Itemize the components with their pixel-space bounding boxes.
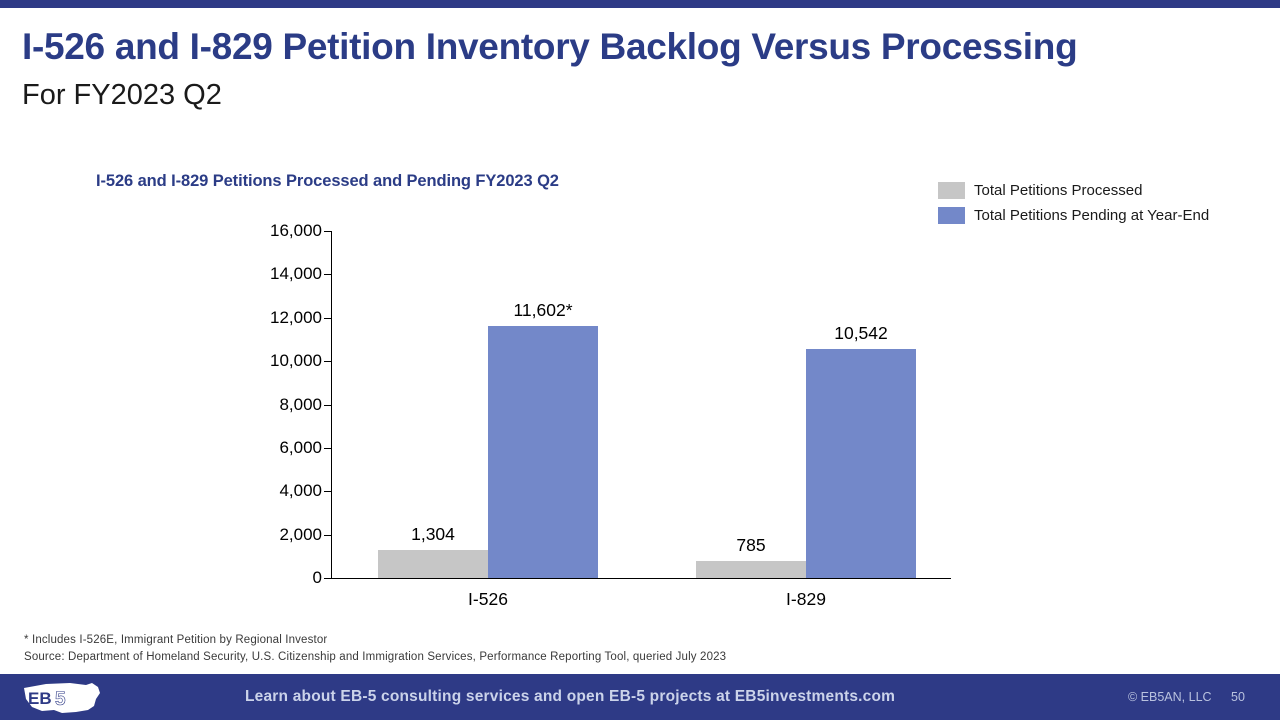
footer-copyright: © EB5AN, LLC [1128,690,1212,704]
bar-value-label: 1,304 [411,524,455,545]
bar-i-526-processed[interactable] [378,550,488,578]
y-axis-tick-label: 8,000 [279,395,322,415]
x-axis-category-label: I-829 [786,589,826,610]
y-axis-tick-label: 16,000 [270,221,322,241]
bar-i-829-pending[interactable] [806,349,916,578]
x-axis-line [331,578,951,579]
y-axis-tick-mark [324,318,331,319]
y-axis-tick-mark [324,491,331,492]
legend-label-pending: Total Petitions Pending at Year-End [974,207,1209,224]
y-axis-tick-mark [324,274,331,275]
y-axis-tick-mark [324,535,331,536]
page-title: I-526 and I-829 Petition Inventory Backl… [22,26,1077,68]
legend-item-pending[interactable]: Total Petitions Pending at Year-End [938,203,1209,228]
page-number: 50 [1231,690,1245,704]
bar-i-526-pending[interactable] [488,326,598,578]
y-axis-tick-mark [324,405,331,406]
y-axis-tick-mark [324,448,331,449]
eb5an-logo[interactable]: EB 5 AN [16,679,108,717]
y-axis-tick-label: 2,000 [279,525,322,545]
bar-value-label: 10,542 [834,323,888,344]
bar-i-829-processed[interactable] [696,561,806,578]
y-axis-tick-mark [324,231,331,232]
y-axis-tick-label: 12,000 [270,308,322,328]
y-axis-tick-mark [324,361,331,362]
x-axis-category-label: I-526 [468,589,508,610]
footnote-asterisk: * Includes I-526E, Immigrant Petition by… [24,632,726,649]
y-axis-tick-label: 10,000 [270,351,322,371]
bar-value-label: 785 [736,535,765,556]
slide-canvas: I-526 and I-829 Petition Inventory Backl… [0,0,1280,720]
top-accent-bar [0,0,1280,8]
y-axis-line [331,231,332,579]
plot-area: 02,0004,0006,0008,00010,00012,00014,0001… [331,231,951,578]
y-axis-tick-label: 4,000 [279,481,322,501]
y-axis-tick-label: 0 [313,568,322,588]
chart-container: I-526 and I-829 Petitions Processed and … [0,150,1280,610]
y-axis-tick-mark [324,578,331,579]
legend-label-processed: Total Petitions Processed [974,182,1142,199]
svg-text:5: 5 [55,689,66,710]
legend-item-processed[interactable]: Total Petitions Processed [938,178,1209,203]
y-axis-tick-label: 6,000 [279,438,322,458]
footnotes: * Includes I-526E, Immigrant Petition by… [24,632,726,666]
svg-text:EB: EB [28,689,52,708]
footnote-source: Source: Department of Homeland Security,… [24,649,726,666]
svg-text:AN: AN [68,689,93,708]
page-subtitle: For FY2023 Q2 [22,79,222,112]
chart-title: I-526 and I-829 Petitions Processed and … [96,172,559,191]
y-axis-tick-label: 14,000 [270,264,322,284]
bar-value-label: 11,602* [513,300,572,321]
legend-swatch-pending [938,207,965,224]
footer-bar: EB 5 AN Learn about EB-5 consulting serv… [0,674,1280,720]
legend-swatch-processed [938,182,965,199]
footer-cta[interactable]: Learn about EB-5 consulting services and… [245,688,895,706]
chart-legend: Total Petitions Processed Total Petition… [938,178,1209,228]
